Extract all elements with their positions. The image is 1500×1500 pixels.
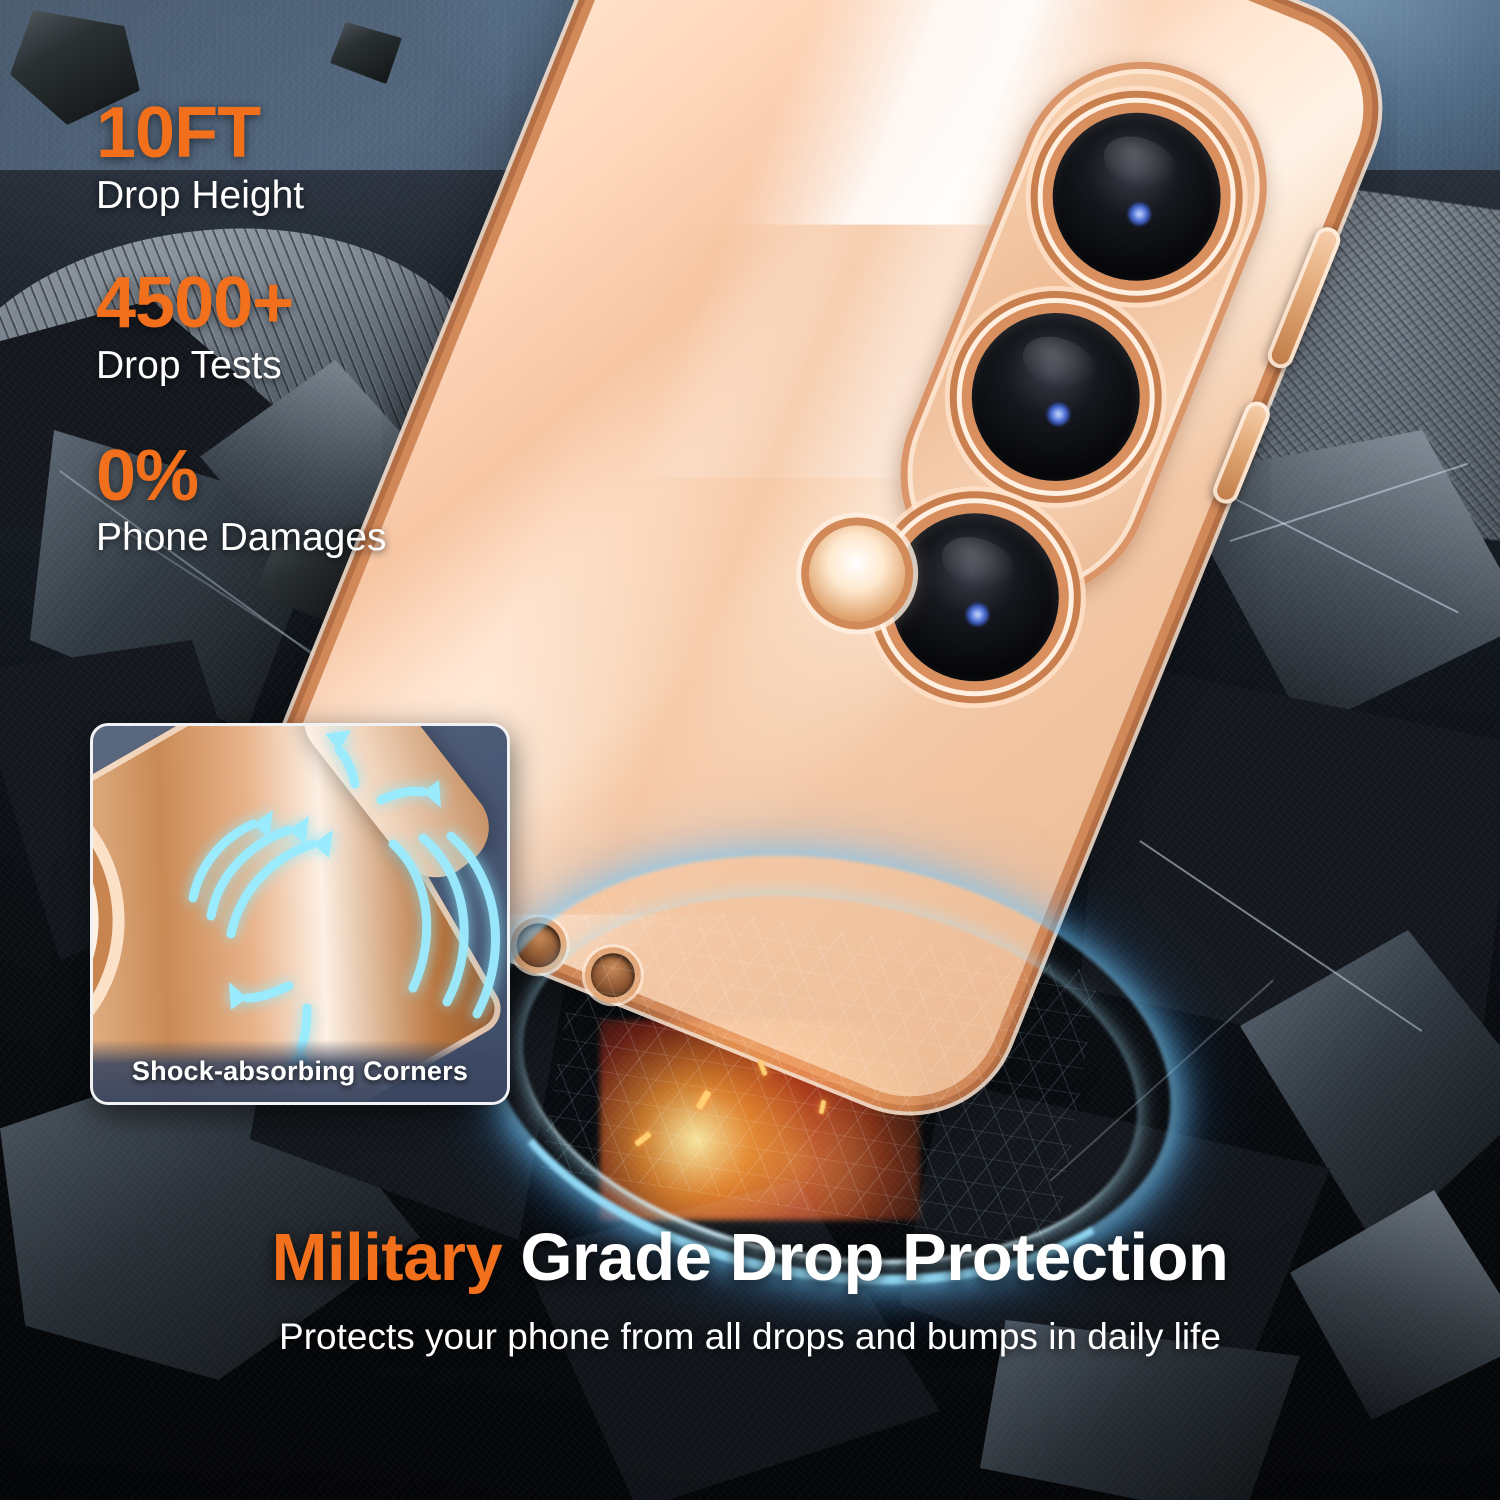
lens-highlight: [1096, 126, 1187, 202]
stat-value: 4500+: [96, 266, 536, 342]
lens-glint: [1123, 199, 1154, 230]
lens-highlight: [934, 527, 1025, 603]
stat-spacer: [96, 397, 536, 439]
inset-caption-text: Shock-absorbing Corners: [132, 1056, 468, 1087]
stat-label: Phone Damages: [96, 514, 536, 563]
product-marketing-image: 10FT Drop Height 4500+ Drop Tests 0% Pho…: [0, 0, 1500, 1500]
stat-drop-tests: 4500+ Drop Tests: [96, 266, 536, 390]
stat-label: Drop Height: [96, 172, 536, 221]
inset-caption-bar: Shock-absorbing Corners: [93, 1040, 507, 1102]
stats-list: 10FT Drop Height 4500+ Drop Tests 0% Pho…: [96, 96, 536, 569]
headline-emphasis: Military: [272, 1220, 503, 1295]
headline-block: Military Grade Drop Protection Protects …: [0, 1222, 1500, 1358]
lens-glint: [961, 599, 992, 630]
stat-spacer: [96, 226, 536, 266]
stat-phone-damages: 0% Phone Damages: [96, 439, 536, 563]
main-headline: Military Grade Drop Protection: [0, 1222, 1500, 1294]
headline-rest: Grade Drop Protection: [502, 1220, 1228, 1295]
lens-glint: [1042, 399, 1073, 430]
shock-absorbing-corner-inset: Shock-absorbing Corners: [90, 723, 510, 1105]
stat-value: 10FT: [96, 96, 536, 172]
stat-label: Drop Tests: [96, 342, 536, 391]
stat-value: 0%: [96, 439, 536, 515]
stat-drop-height: 10FT Drop Height: [96, 96, 536, 220]
lens-highlight: [1015, 326, 1106, 402]
headline-subtitle: Protects your phone from all drops and b…: [0, 1316, 1500, 1358]
